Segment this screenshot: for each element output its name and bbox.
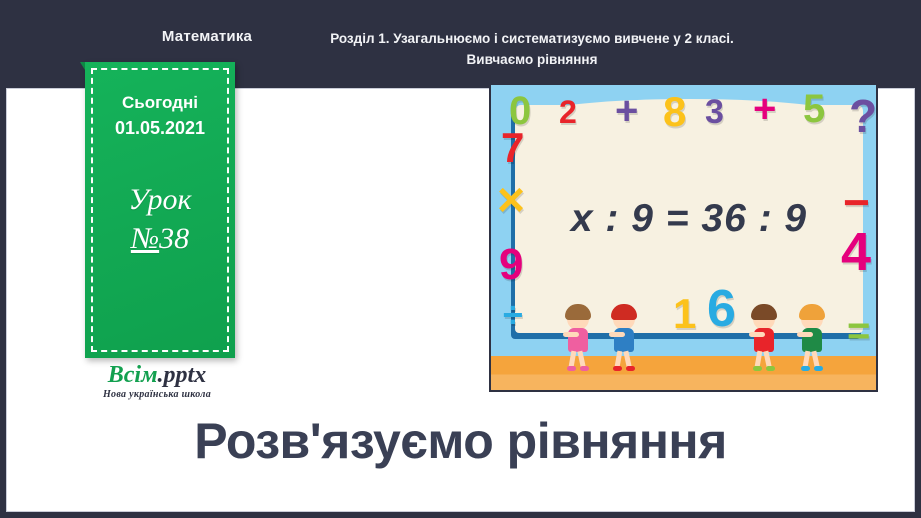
date-value: 01.05.2021 xyxy=(115,115,205,141)
glyph-10: 9 xyxy=(499,243,523,287)
brand-name-dark: .pptx xyxy=(158,362,207,388)
brand-name-green: Всім xyxy=(108,362,158,388)
page-title: Розв'язуємо рівняння xyxy=(6,412,915,470)
today-label: Сьогодні xyxy=(122,90,198,115)
glyph-6: 5 xyxy=(803,89,825,129)
chapter-line-2: Вивчаємо рівняння xyxy=(467,52,598,67)
glyph-2: + xyxy=(615,91,638,131)
lesson-word: Урок xyxy=(128,181,191,219)
glyph-5: + xyxy=(753,89,776,129)
glyph-7: ? xyxy=(849,93,877,139)
brand-tagline: Нова українська школа xyxy=(62,389,252,400)
boy-blonde xyxy=(797,298,827,374)
glyph-12: − xyxy=(843,179,870,225)
chapter-heading: Розділ 1. Узагальнюємо і систематизуємо … xyxy=(262,28,802,70)
brand-logo: Всім.pptx Нова українська школа xyxy=(62,362,252,400)
glyph-3: 8 xyxy=(663,91,686,133)
equation-text: x : 9 = 36 : 9 xyxy=(515,197,863,241)
glyph-11: ÷ xyxy=(503,297,523,333)
girl-brown-hair xyxy=(563,298,593,374)
girl-glasses xyxy=(749,298,779,374)
glyph-1: 2 xyxy=(559,96,577,128)
number-sign: № xyxy=(131,222,159,255)
glyph-9: × xyxy=(497,177,525,225)
glyph-13: 4 xyxy=(841,225,871,279)
glyph-4: 3 xyxy=(705,95,724,129)
glyph-16: 6 xyxy=(707,283,736,335)
boy-red-hair xyxy=(609,298,639,374)
glyph-14: = xyxy=(847,311,870,351)
chapter-line-1: Розділ 1. Узагальнюємо і систематизуємо … xyxy=(330,31,734,46)
lesson-number: №38 xyxy=(131,219,189,259)
lesson-card-body: Сьогодні 01.05.2021 Урок №38 xyxy=(85,62,235,358)
lesson-number-value: 38 xyxy=(159,222,189,255)
glyph-8: 7 xyxy=(501,127,524,169)
lesson-card: Сьогодні 01.05.2021 Урок №38 xyxy=(80,62,235,362)
math-illustration: x : 9 = 36 : 9 02+83+5?7×9÷−4=16 xyxy=(489,83,878,392)
slide: Математика Розділ 1. Узагальнюємо і сист… xyxy=(0,0,921,518)
glyph-15: 1 xyxy=(673,293,696,335)
brand-name: Всім.pptx xyxy=(62,362,252,388)
